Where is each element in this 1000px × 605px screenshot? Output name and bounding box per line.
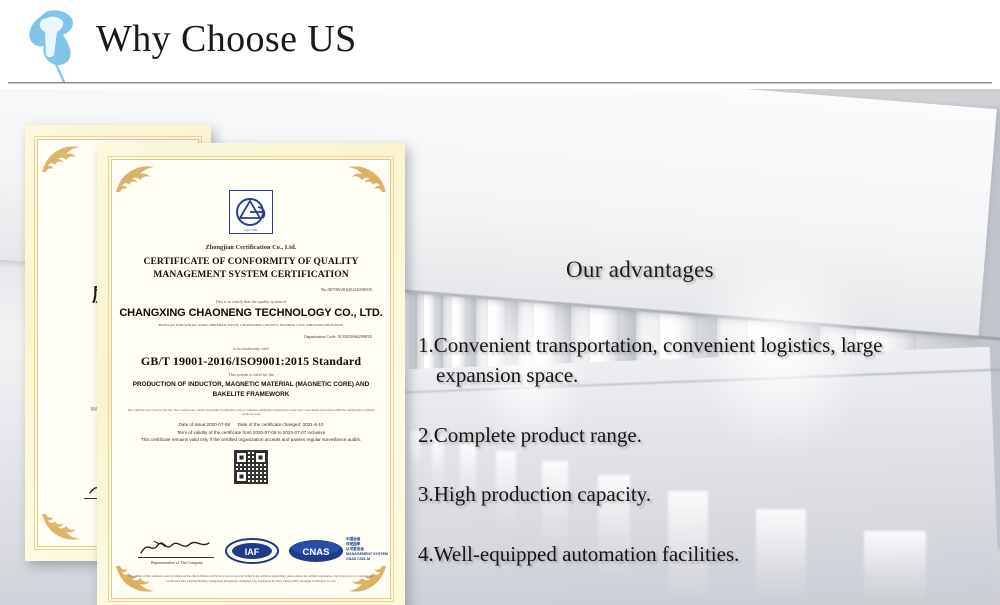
certificate-front-inner: CQCCERT Zhongjian Certification Co., Ltd… xyxy=(111,159,391,599)
date-of-issue: Date of issue:2020-07-08 xyxy=(178,421,230,429)
advantage-3-line1: 3.High production capacity. xyxy=(418,482,651,506)
certificate-issuer: Zhongjian Certification Co., Ltd. xyxy=(112,244,390,251)
advantage-2-line1: 2.Complete product range. xyxy=(418,423,642,447)
scope-line1: PRODUCTION OF INDUCTOR, MAGNETIC MATERIA… xyxy=(133,381,370,388)
advantage-item-1: 1.Convenient transportation, convenient … xyxy=(418,331,990,391)
certificate-dates: Date of issue:2020-07-08 Date of the cer… xyxy=(122,421,380,444)
certificate-title-line2: MANAGEMENT SYSTEM CERTIFICATION xyxy=(153,269,348,280)
advantage-item-2: 2.Complete product range. xyxy=(418,421,990,451)
header-divider xyxy=(8,82,992,84)
cnas-logo-icon: CNAS xyxy=(288,538,344,564)
date-row: Date of issue:2020-07-08 Date of the cer… xyxy=(178,421,323,429)
certificate-title: CERTIFICATE OF CONFORMITY OF QUALITY MAN… xyxy=(122,256,380,282)
corner-ornament-icon xyxy=(39,141,85,175)
advantages-heading: Our advantages xyxy=(566,257,714,283)
certificate-disclaimer: This certificate stay covers for the dat… xyxy=(122,408,380,417)
page-header: Why Choose US xyxy=(0,0,1000,89)
page-title: Why Choose US xyxy=(96,17,357,61)
signature-mark xyxy=(138,536,212,558)
qr-code xyxy=(234,450,268,484)
corner-ornament-icon xyxy=(343,161,389,195)
certify-note: This is to certify that the quality syst… xyxy=(112,299,390,304)
scope-line2: BAKELITE FRAMEWORK xyxy=(213,391,290,398)
svg-text:CNAS: CNAS xyxy=(303,547,330,558)
advantage-1-line1: 1.Convenient transportation, convenient … xyxy=(418,333,882,357)
date-changed: Date of the certificate changed: 2021-8-… xyxy=(238,421,324,429)
conformity-note: is in conformity with xyxy=(112,346,390,351)
certification-body-logo-icon: CQCCERT xyxy=(229,190,273,234)
why-choose-us-banner: Why Choose US xyxy=(0,0,1000,605)
disclaimer-line1: This certificate stay covers for the dat… xyxy=(127,408,333,412)
footer-line1: The validity of this certificate could b… xyxy=(129,575,243,578)
certificate-footer: The validity of this certificate could b… xyxy=(124,575,378,584)
certificate-front: CQCCERT Zhongjian Certification Co., Ltd… xyxy=(97,143,405,605)
advantage-1-line2: expansion space. xyxy=(418,361,990,391)
cnas-en-line2: CNAS C001-M xyxy=(346,557,388,562)
footer-line3: Add: Zhejiang Building, Guangchang Zhong… xyxy=(181,580,336,583)
svg-text:IAF: IAF xyxy=(245,547,260,557)
iaf-logo-icon: IAF xyxy=(224,538,280,564)
logo-caption: CQCCERT xyxy=(230,229,272,232)
pushpin-icon xyxy=(16,6,88,86)
organization-code: Organization Code: 913305206629983X xyxy=(304,334,372,339)
certificate-scope: PRODUCTION OF INDUCTOR, MAGNETIC MATERIA… xyxy=(122,380,380,399)
certified-company-address: BAITAAN INDUSTRIAL PARK, MEISHAN TOWN, C… xyxy=(120,323,382,327)
certificate-number: No.00700(20)Q5216580/05 xyxy=(321,287,372,292)
certificate-title-line1: CERTIFICATE OF CONFORMITY OF QUALITY xyxy=(143,256,358,267)
hero-image: 质量 兹证明下列组织的质量管理体系符合 公司代表 签发日期 认证机构 xyxy=(0,89,1000,605)
certified-company-name: CHANGXING CHAONENG TECHNOLOGY CO., LTD. xyxy=(118,307,384,319)
signature-rule xyxy=(138,557,214,558)
certificate-standard: GB/T 19001-2016/ISO9001:2015 Standard xyxy=(112,354,390,369)
corner-ornament-icon xyxy=(113,161,159,195)
advantage-item-4: 4.Well-equipped automation facilities. xyxy=(418,540,990,570)
cnas-accreditation-text: 中国合格 评定国家 认可委员会 MANAGEMENT SYSTEM CNAS C… xyxy=(346,537,388,562)
advantage-item-3: 3.High production capacity. xyxy=(418,480,990,510)
term-of-validity: Term of validity of the certificate from… xyxy=(177,429,325,437)
surveillance-note: This certificate remains valid only if t… xyxy=(141,436,361,444)
advantage-4-line1: 4.Well-equipped automation facilities. xyxy=(418,542,739,566)
validity-note: This system is valid for the xyxy=(112,372,390,377)
advantages-list: 1.Convenient transportation, convenient … xyxy=(418,331,990,600)
signature-caption: Representative of The Company xyxy=(134,560,220,565)
